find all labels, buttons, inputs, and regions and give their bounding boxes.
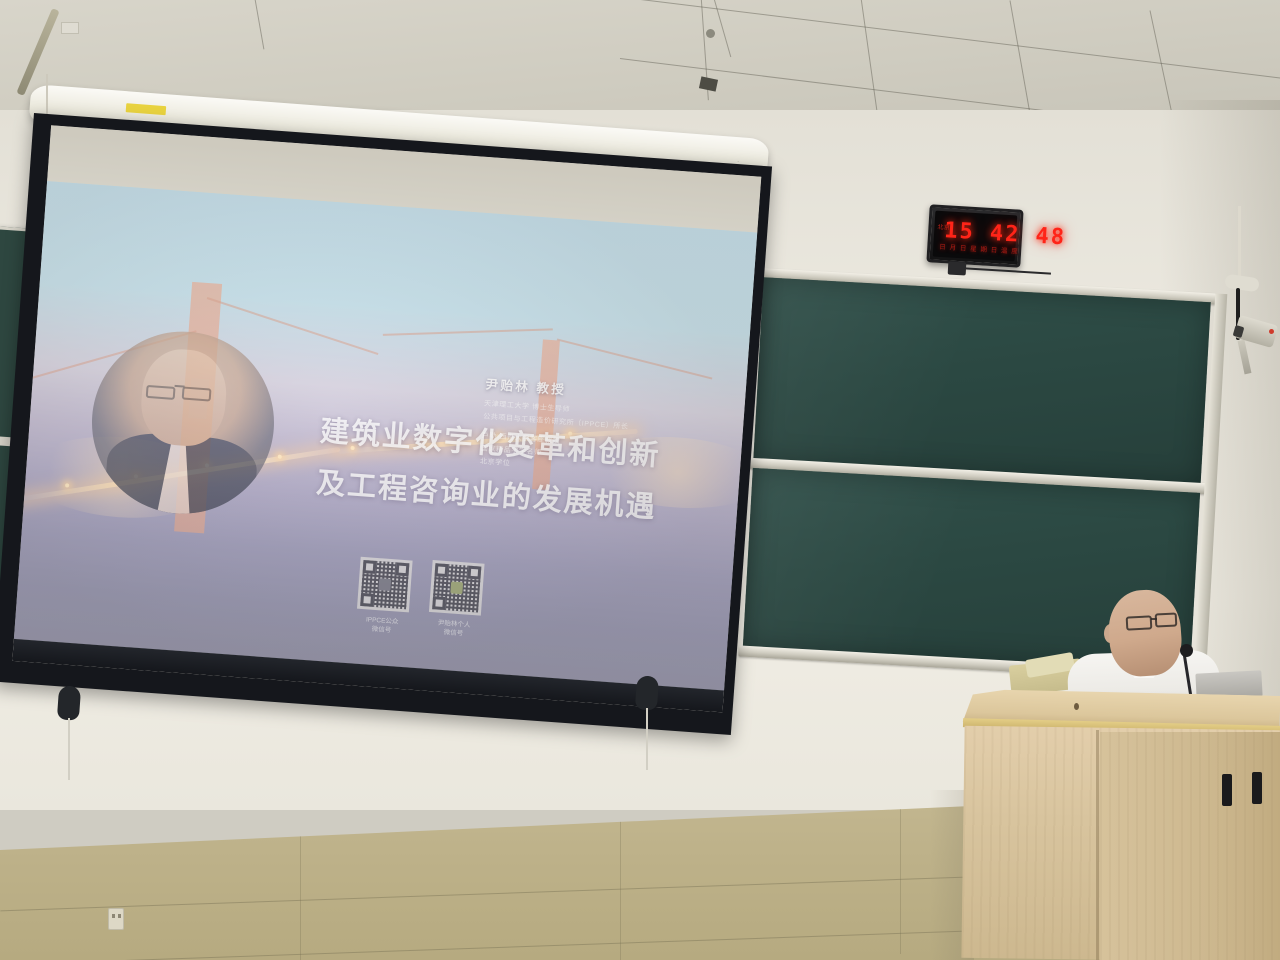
screen-weight-right (635, 675, 659, 710)
wall-junction-box (61, 22, 79, 34)
clock-mount-bracket (948, 262, 967, 276)
camera-conduit (1238, 206, 1241, 282)
eyeglasses-bridge (1151, 618, 1157, 620)
podium-cable-hole (1074, 703, 1079, 710)
podium-side-panel (1100, 732, 1280, 960)
podium-vent-slot-2 (1252, 772, 1262, 804)
blackboard-panel-upper (753, 277, 1211, 486)
eyeglasses-icon-left (1126, 615, 1153, 630)
lecture-hall-scene: 北京 15 42 48 日 月 日 星 期 日 温 度 · (0, 0, 1280, 960)
podium-corner-edge (1096, 730, 1099, 960)
wall-power-outlet (108, 908, 124, 930)
screen-surface: 建筑业数字化变革和创新 及工程咨询业的发展机遇 IPPCE公众 微信号 (12, 125, 761, 712)
podium-vent-slot-1 (1222, 774, 1232, 806)
screen-weight-cord-right (646, 708, 648, 770)
eyeglasses-icon-right (1155, 612, 1178, 627)
clock-face: 北京 15 42 48 日 月 日 星 期 日 温 度 (933, 211, 1018, 262)
presentation-slide: 建筑业数字化变革和创新 及工程咨询业的发展机遇 IPPCE公众 微信号 (14, 181, 757, 690)
microphone-icon[interactable] (1180, 644, 1193, 657)
ceiling-sensor-icon (706, 29, 715, 38)
camera-led-indicator (1269, 329, 1274, 334)
screen-weight-cord-left (68, 718, 70, 780)
screen-weight-left (57, 685, 81, 720)
projection-screen: 建筑业数字化变革和创新 及工程咨询业的发展机遇 IPPCE公众 微信号 (0, 113, 772, 735)
casing-yellow-label (126, 103, 167, 115)
led-clock: 北京 15 42 48 日 月 日 星 期 日 温 度 (926, 204, 1023, 267)
